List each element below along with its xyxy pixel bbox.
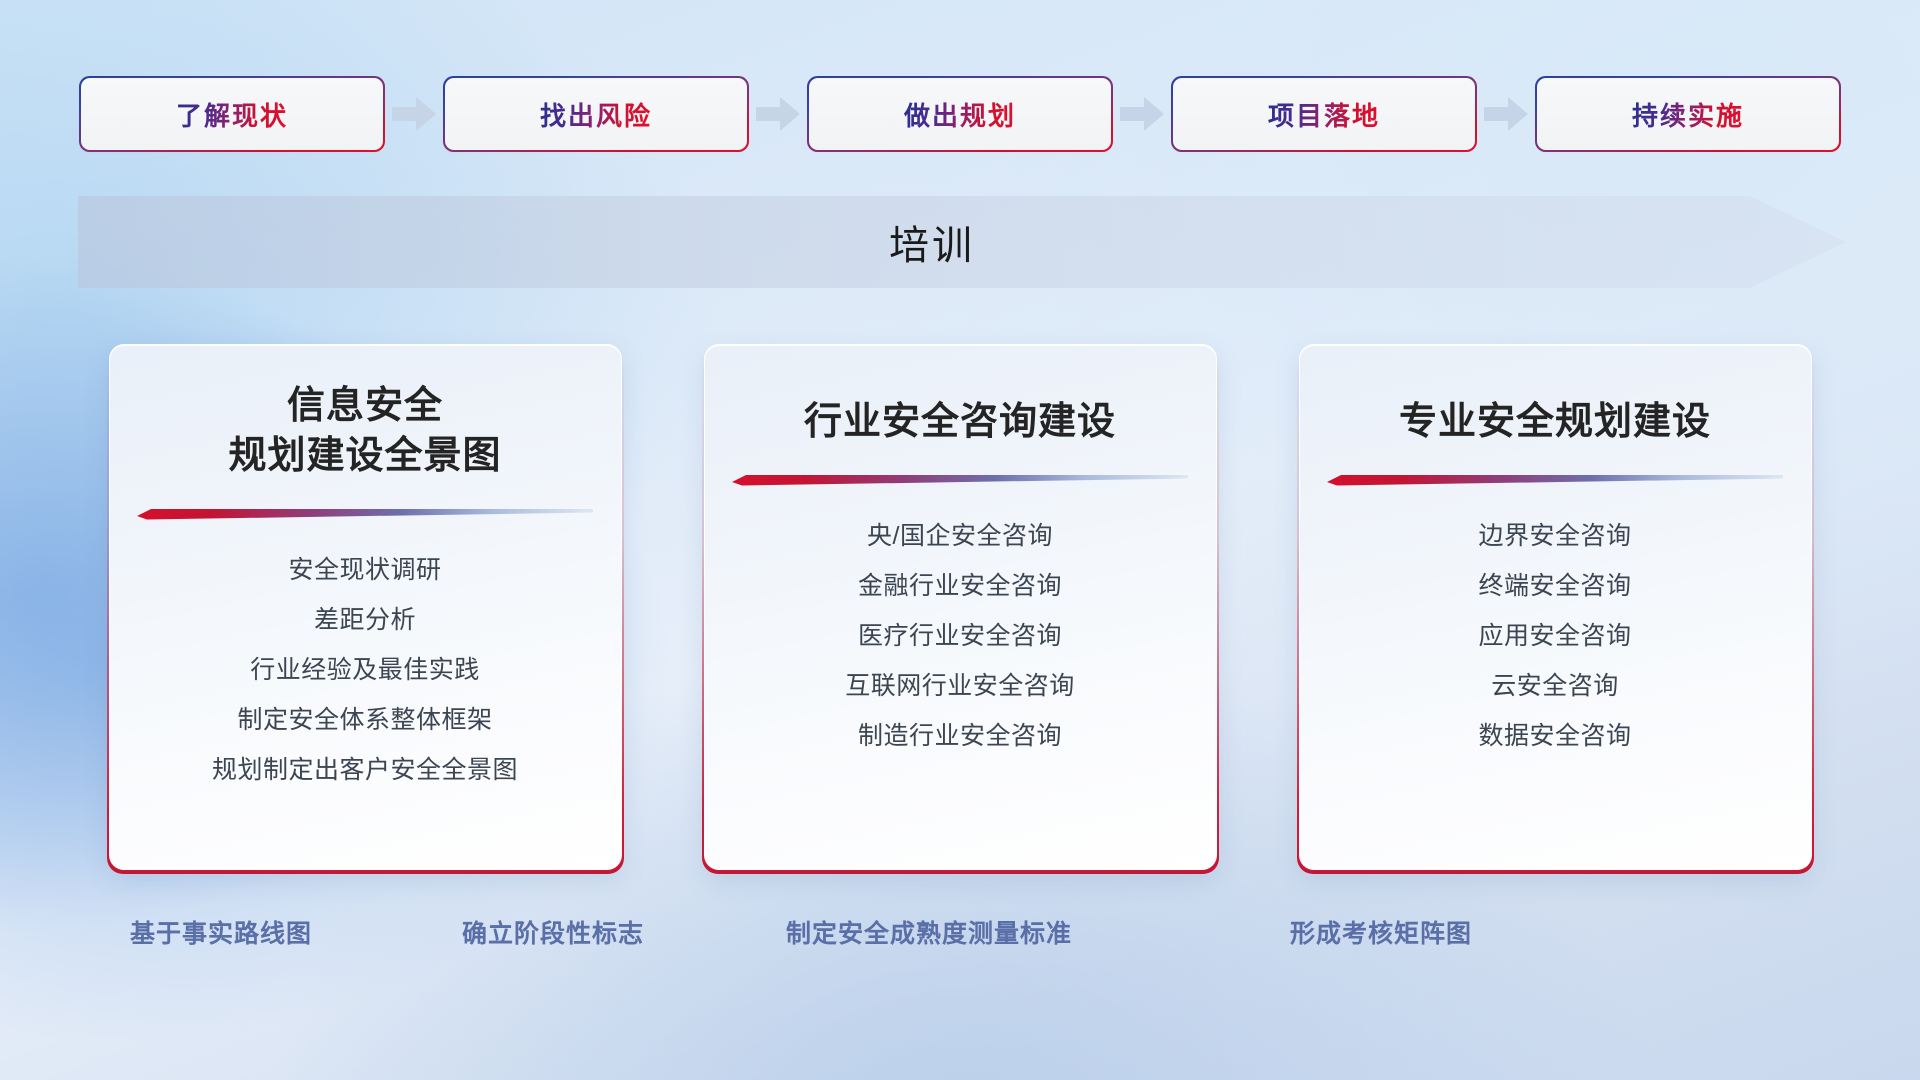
slide-canvas: 了解现状 找出风险 做出规划 项目落地 [0,0,1920,1080]
banner-title: 培训 [78,196,1846,288]
step-box-2[interactable]: 找出风险 [445,78,747,150]
card-2-title-line-1: 行业安全咨询建设 [723,397,1198,447]
list-item: 安全现状调研 [288,545,441,595]
training-banner: 培训 [78,196,1846,288]
list-item: 央/国企安全咨询 [867,511,1053,561]
card-2-title: 行业安全咨询建设 [705,397,1216,447]
step-label-1: 了解现状 [176,96,288,133]
list-item: 医疗行业安全咨询 [858,611,1062,661]
card-1-title-line-1: 信息安全 [128,381,603,431]
footer-label-1: 基于事实路线图 [130,910,312,958]
list-item: 制定安全体系整体框架 [237,695,492,745]
list-item: 行业经验及最佳实践 [250,645,480,695]
footer-label-row: 基于事实路线图 确立阶段性标志 制定安全成熟度测量标准 形成考核矩阵图 [0,910,1920,958]
arrow-right-icon-4 [1475,78,1537,150]
card-2-list: 央/国企安全咨询 金融行业安全咨询 医疗行业安全咨询 互联网行业安全咨询 制造行… [705,511,1216,761]
card-3-list: 边界安全咨询 终端安全咨询 应用安全咨询 云安全咨询 数据安全咨询 [1300,511,1811,761]
step-box-3[interactable]: 做出规划 [809,78,1111,150]
step-label-5: 持续实施 [1632,96,1744,133]
arrow-right-icon-3 [1111,78,1173,150]
footer-label-2: 确立阶段性标志 [462,910,644,958]
card-2-divider [732,473,1188,487]
arrow-right-icon-1 [383,78,445,150]
card-3-divider [1327,473,1783,487]
list-item: 互联网行业安全咨询 [845,661,1075,711]
card-3[interactable]: 专业安全规划建设 [1289,336,1822,874]
process-step-row: 了解现状 找出风险 做出规划 项目落地 [0,78,1920,150]
step-box-4[interactable]: 项目落地 [1173,78,1475,150]
step-label-3: 做出规划 [904,96,1016,133]
card-row: 信息安全 规划建设全景图 [0,336,1920,874]
card-1-title-line-2: 规划建设全景图 [128,431,603,481]
footer-label-3: 制定安全成熟度测量标准 [786,910,1072,958]
step-box-5[interactable]: 持续实施 [1537,78,1839,150]
list-item: 制造行业安全咨询 [858,711,1062,761]
card-3-title-line-1: 专业安全规划建设 [1318,397,1793,447]
card-1-list: 安全现状调研 差距分析 行业经验及最佳实践 制定安全体系整体框架 规划制定出客户… [110,545,621,795]
card-3-title: 专业安全规划建设 [1300,397,1811,447]
footer-label-4: 形成考核矩阵图 [1290,910,1472,958]
list-item: 应用安全咨询 [1478,611,1631,661]
list-item: 边界安全咨询 [1478,511,1631,561]
step-label-2: 找出风险 [540,96,652,133]
list-item: 金融行业安全咨询 [858,561,1062,611]
card-1-divider [137,507,593,521]
card-1-title: 信息安全 规划建设全景图 [110,381,621,481]
list-item: 差距分析 [314,595,416,645]
list-item: 数据安全咨询 [1478,711,1631,761]
arrow-right-icon-2 [747,78,809,150]
step-label-4: 项目落地 [1268,96,1380,133]
list-item: 规划制定出客户安全全景图 [212,745,518,795]
card-1[interactable]: 信息安全 规划建设全景图 [99,336,632,874]
list-item: 终端安全咨询 [1478,561,1631,611]
list-item: 云安全咨询 [1491,661,1619,711]
step-box-1[interactable]: 了解现状 [81,78,383,150]
card-2[interactable]: 行业安全咨询建设 [694,336,1227,874]
